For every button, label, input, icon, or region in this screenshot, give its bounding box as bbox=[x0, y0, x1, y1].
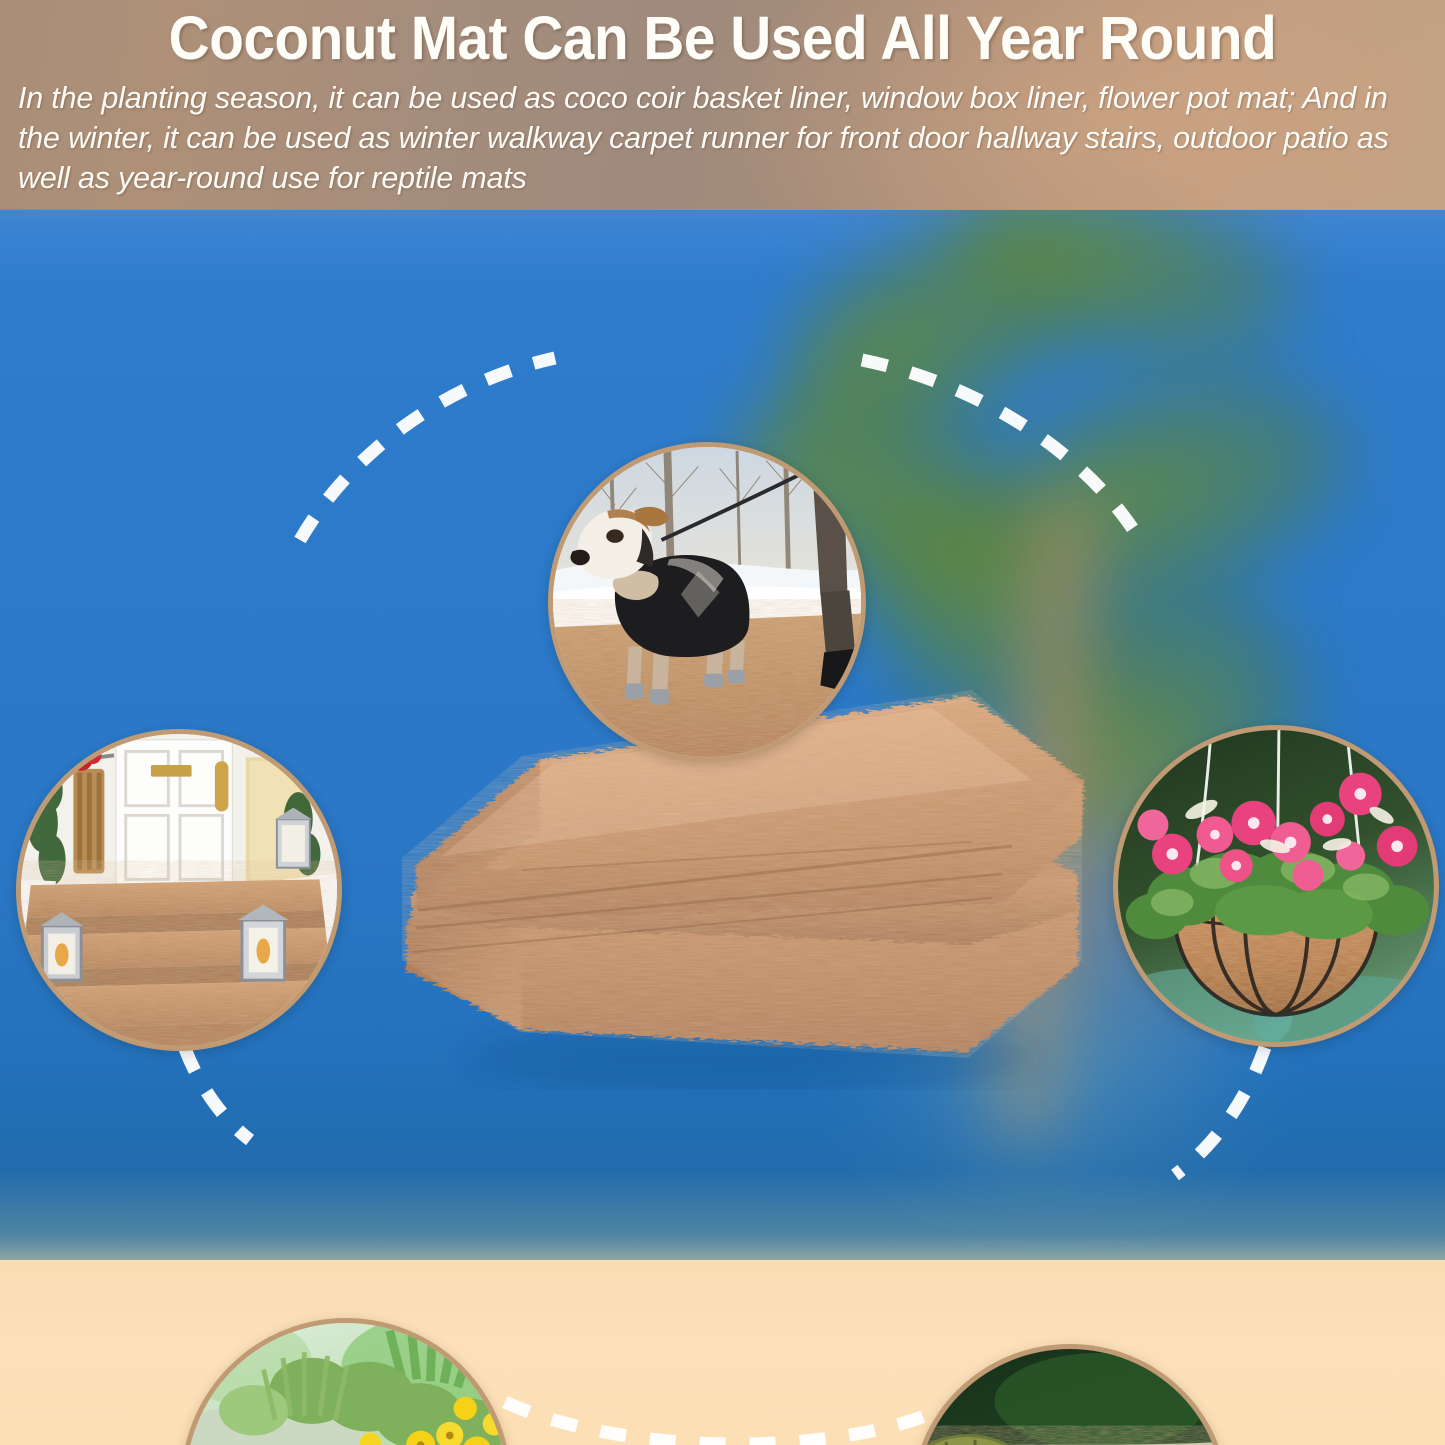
callout-front-door-stairs[interactable] bbox=[16, 729, 342, 1051]
hanging-basket-photo bbox=[1118, 730, 1434, 1042]
header-description: In the planting season, it can be used a… bbox=[18, 78, 1433, 198]
dog-winter-photo bbox=[553, 447, 861, 757]
door-handle bbox=[215, 761, 229, 811]
arc-door-to-dog bbox=[300, 358, 555, 540]
lantern-upper-right bbox=[275, 808, 312, 868]
lantern-right bbox=[238, 905, 288, 981]
mail-slot bbox=[151, 765, 192, 777]
dog-nose bbox=[570, 550, 589, 565]
scene bbox=[0, 210, 1445, 1445]
dog-eye bbox=[606, 529, 623, 543]
front-door bbox=[116, 740, 232, 893]
front-door-photo bbox=[21, 734, 337, 1046]
callout-winter-walkway-dog[interactable] bbox=[548, 442, 866, 762]
callout-hanging-basket-liner[interactable] bbox=[1113, 725, 1439, 1047]
lantern-left bbox=[40, 912, 83, 980]
page-title: Coconut Mat Can Be Used All Year Round bbox=[51, 4, 1395, 72]
arc-dog-to-basket bbox=[862, 360, 1140, 540]
header-banner: Coconut Mat Can Be Used All Year Round I… bbox=[0, 0, 1445, 212]
arc-windowbox-to-reptile bbox=[505, 1402, 940, 1444]
